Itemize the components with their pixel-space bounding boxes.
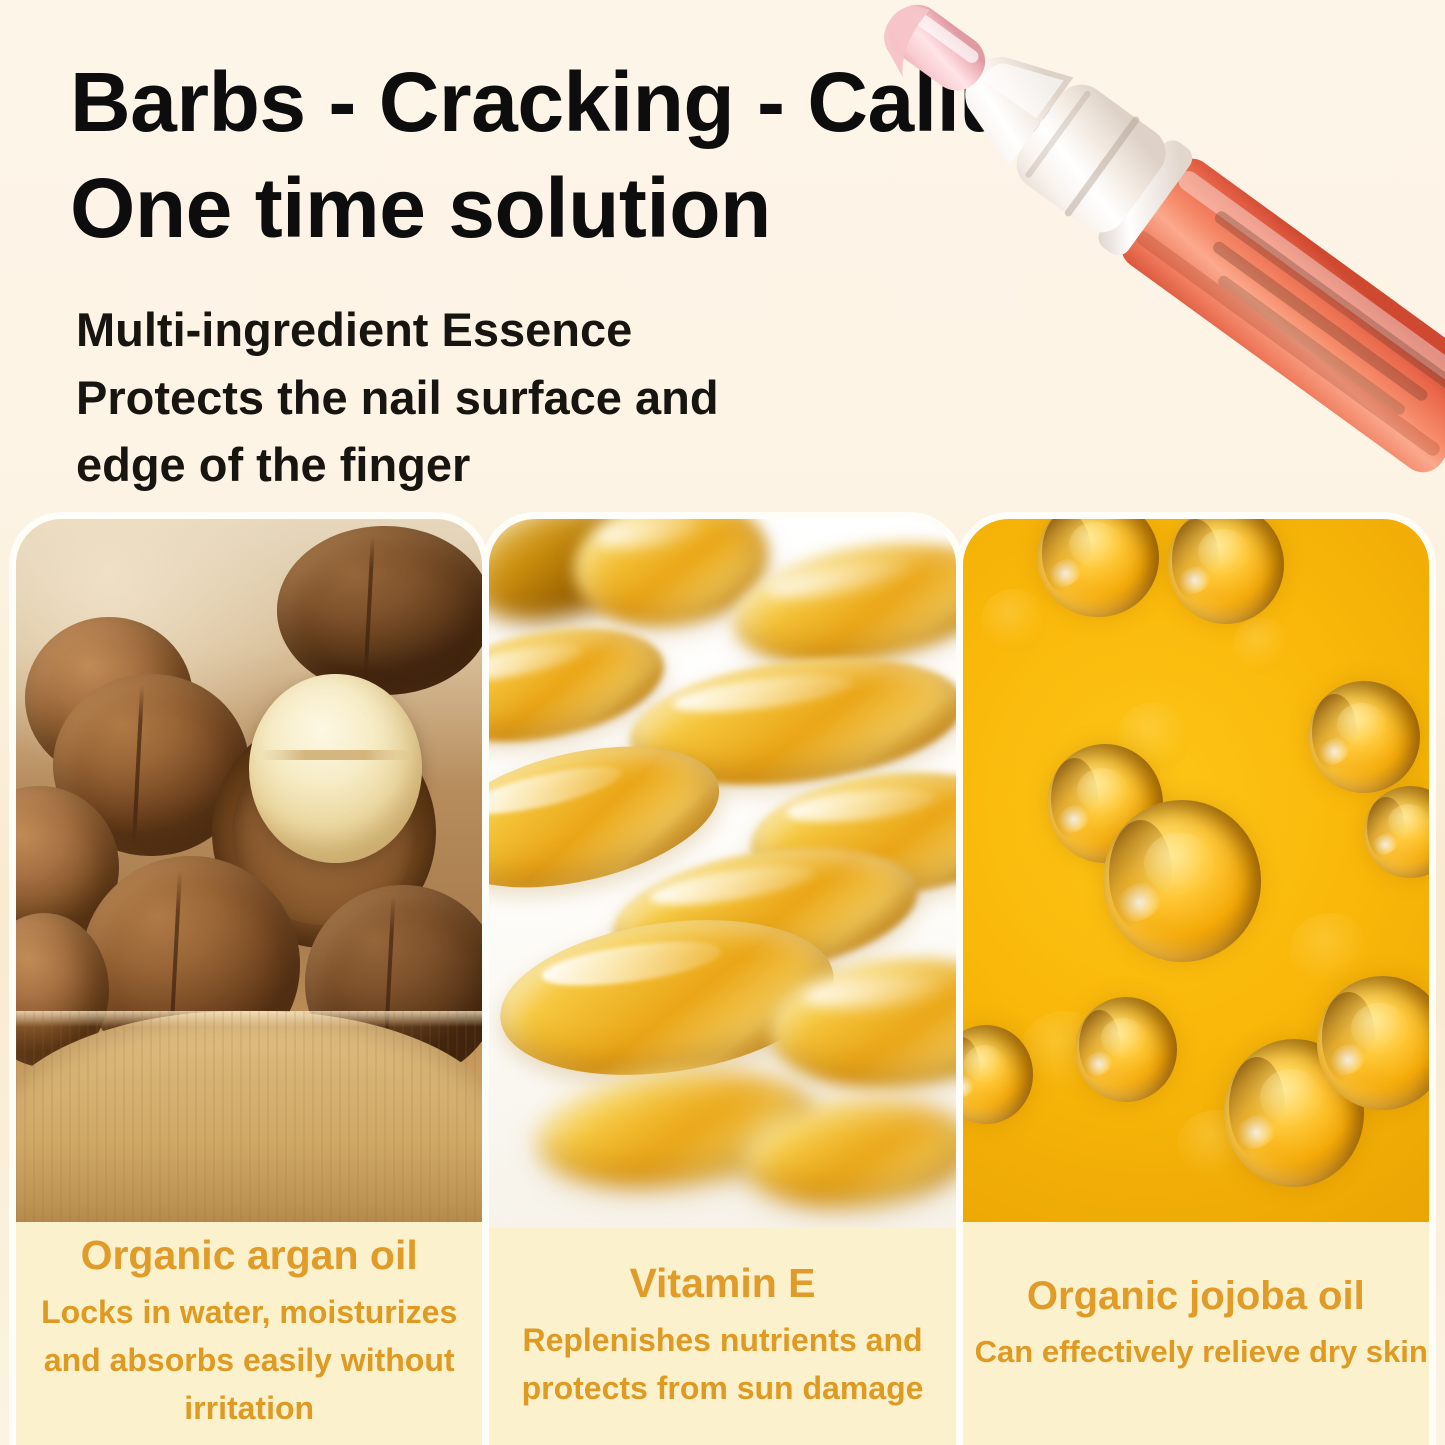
ingredient-title: Vitamin E — [501, 1258, 943, 1308]
ingredient-description: Replenishes nutrients and protects from … — [501, 1316, 943, 1412]
ingredient-card[interactable]: Vitamin E Replenishes nutrients and prot… — [489, 519, 955, 1445]
pen-barrel-highlight — [1175, 167, 1445, 402]
pen-barrel-shadow — [1133, 229, 1442, 459]
ingredient-photo-argan — [16, 519, 482, 1222]
headline-line-1: Barbs - Cracking - Callus — [70, 55, 1056, 149]
subheadline-line-1: Multi-ingredient Essence — [76, 296, 836, 364]
ingredient-caption: Organic jojoba oil Can effectively relie… — [963, 1222, 1429, 1445]
ingredient-title: Organic argan oil — [28, 1230, 470, 1280]
jojoba-oil-bubbles-photo — [963, 519, 1429, 1222]
ingredient-description: Locks in water, moisturizes and absorbs … — [28, 1288, 470, 1432]
subheadline: Multi-ingredient Essence Protects the na… — [76, 296, 836, 499]
headline-line-2: One time solution — [70, 156, 1110, 262]
softgel-capsules-photo — [489, 519, 955, 1228]
ingredient-description: Can effectively relieve dry skin — [975, 1329, 1417, 1376]
ingredient-caption: Vitamin E Replenishes nutrients and prot… — [489, 1228, 955, 1445]
subheadline-line-3: edge of the finger — [76, 431, 836, 499]
ingredient-caption: Organic argan oil Locks in water, moistu… — [16, 1222, 482, 1445]
wooden-bowl — [16, 1011, 482, 1222]
pen-barrel — [1112, 150, 1445, 481]
page-title: Barbs - Cracking - Callus One time solut… — [70, 50, 1110, 262]
ingredient-card[interactable]: Organic jojoba oil Can effectively relie… — [963, 519, 1429, 1445]
ingredient-card-row: Organic argan oil Locks in water, moistu… — [0, 519, 1445, 1445]
product-infographic: Barbs - Cracking - Callus One time solut… — [0, 0, 1445, 1445]
subheadline-line-2: Protects the nail surface and — [76, 364, 836, 432]
ingredient-photo-jojoba — [963, 519, 1429, 1222]
ingredient-card[interactable]: Organic argan oil Locks in water, moistu… — [16, 519, 482, 1445]
ingredient-title: Organic jojoba oil — [975, 1272, 1417, 1321]
macadamia-nuts-photo — [16, 519, 482, 1222]
pen-label-text — [1184, 209, 1445, 435]
ingredient-photo-vitamin-e — [489, 519, 955, 1228]
